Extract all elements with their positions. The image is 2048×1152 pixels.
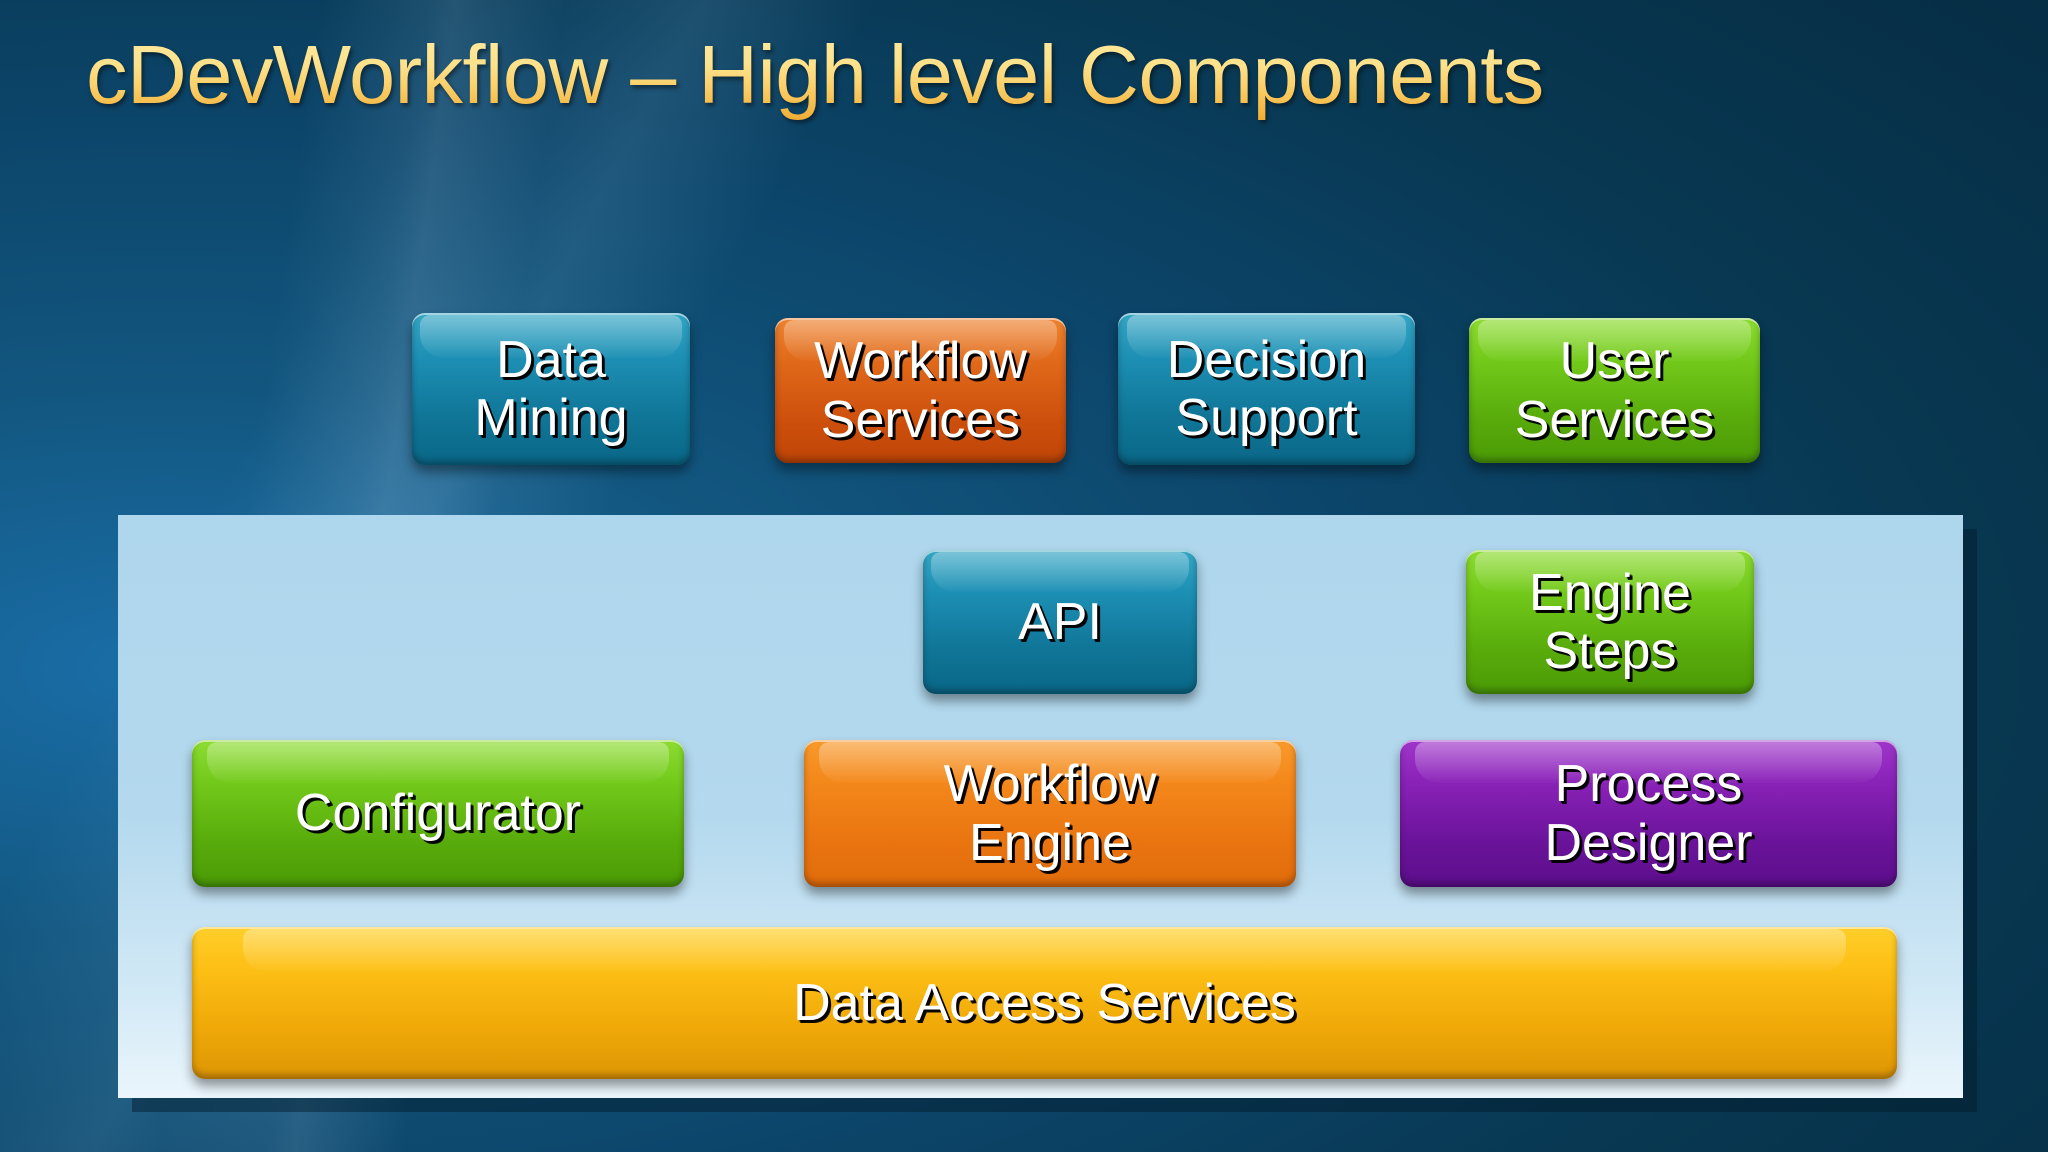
component-label: Engine Steps: [1519, 564, 1701, 680]
component-label-line1: Decision: [1167, 331, 1366, 389]
component-label-line1: Data: [496, 331, 606, 389]
component-label-line1: Workflow: [814, 332, 1027, 390]
component-label-line1: Engine: [1529, 564, 1691, 622]
component-label: Workflow Engine: [934, 755, 1167, 871]
component-label-line2: Support: [1175, 389, 1357, 447]
component-label: API: [1008, 593, 1112, 651]
component-label: User Services: [1505, 332, 1724, 448]
component-label-line1: Workflow: [944, 755, 1157, 813]
component-label-line2: Services: [1515, 391, 1714, 449]
component-label: Workflow Services: [804, 332, 1037, 448]
component-box-user-services[interactable]: User Services: [1469, 318, 1760, 463]
component-box-engine-steps[interactable]: Engine Steps: [1466, 550, 1754, 694]
component-label-line2: Engine: [969, 814, 1131, 872]
component-label-line2: Mining: [474, 389, 627, 447]
component-label-line1: User: [1560, 332, 1670, 390]
component-box-data-mining[interactable]: Data Mining: [412, 313, 690, 465]
component-label-line2: Services: [821, 391, 1020, 449]
component-box-workflow-services[interactable]: Workflow Services: [775, 318, 1066, 463]
component-box-decision-support[interactable]: Decision Support: [1118, 313, 1415, 465]
component-box-workflow-engine[interactable]: Workflow Engine: [804, 740, 1296, 887]
component-box-data-access-services[interactable]: Data Access Services: [192, 927, 1897, 1079]
platform-panel: API Engine Steps Configurator Workflow E…: [118, 515, 1963, 1098]
component-label: Process Designer: [1534, 755, 1762, 871]
component-label-line2: Designer: [1544, 814, 1752, 872]
component-box-configurator[interactable]: Configurator: [192, 740, 684, 887]
component-box-api[interactable]: API: [923, 550, 1197, 694]
page-title: cDevWorkflow – High level Components: [86, 30, 1966, 120]
slide-canvas: cDevWorkflow – High level Components Dat…: [0, 0, 2048, 1152]
component-label: Data Mining: [464, 331, 637, 447]
component-label: Decision Support: [1157, 331, 1376, 447]
component-box-process-designer[interactable]: Process Designer: [1400, 740, 1897, 887]
component-label-line1: Process: [1555, 755, 1743, 813]
component-label: Data Access Services: [783, 974, 1306, 1032]
component-label-line2: Steps: [1544, 622, 1677, 680]
component-label: Configurator: [285, 784, 591, 842]
